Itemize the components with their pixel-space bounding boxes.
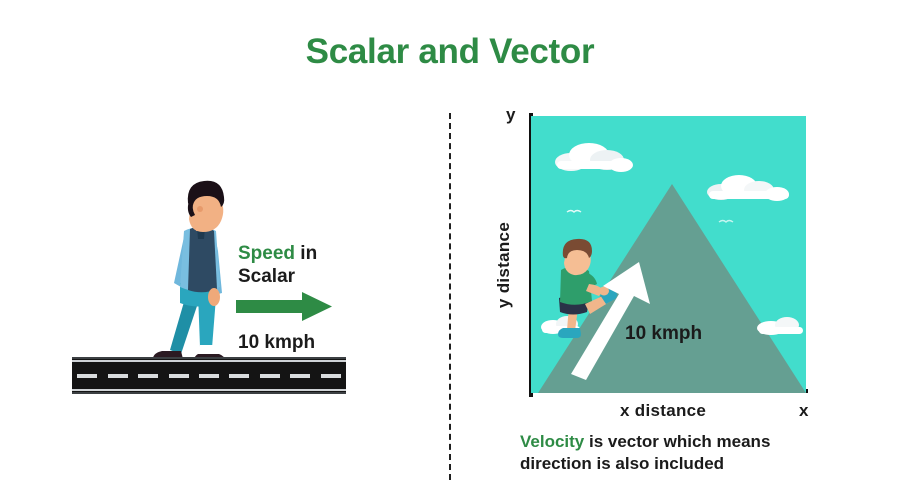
panel-divider — [449, 113, 451, 480]
mountain-scene-art — [531, 116, 806, 393]
speed-label: Speed in Scalar — [238, 242, 418, 288]
scalar-panel: Speed in Scalar 10 kmph — [0, 110, 440, 410]
mountain-scene — [531, 116, 806, 393]
velocity-keyword: Velocity — [520, 432, 584, 451]
y-axis-tip-label: y — [506, 105, 515, 125]
scalar-speed-value: 10 kmph — [238, 332, 315, 354]
vector-panel: y x y distance x distance — [470, 105, 890, 495]
walking-person-icon — [140, 175, 250, 375]
illustration-canvas: Scalar and Vector — [0, 0, 900, 500]
speed-keyword: Speed — [238, 243, 295, 264]
x-axis-label: x distance — [620, 401, 706, 421]
y-axis-label: y distance — [494, 205, 514, 325]
arrow-right-icon — [236, 290, 336, 324]
x-axis-tip-label: x — [799, 401, 808, 421]
page-title: Scalar and Vector — [0, 32, 900, 72]
speed-label-line2: Scalar — [238, 266, 295, 287]
vector-caption: Velocity is vector which means direction… — [520, 431, 890, 475]
speed-label-rest: in — [295, 243, 317, 264]
caption-rest: is vector which means — [584, 432, 770, 451]
road-icon — [72, 357, 346, 394]
vector-speed-value: 10 kmph — [625, 323, 702, 345]
caption-line2: direction is also included — [520, 454, 724, 473]
